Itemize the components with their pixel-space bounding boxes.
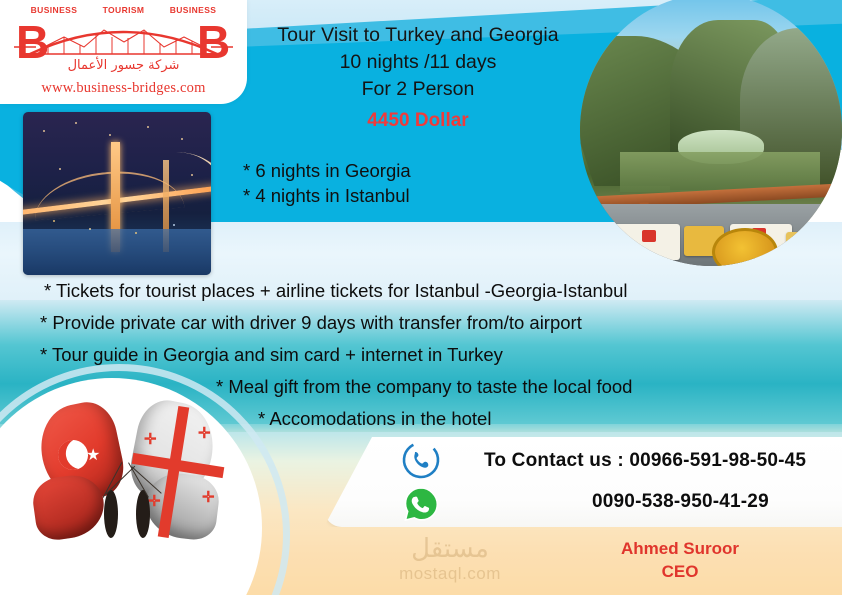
uzungol-valley-photo: [580, 0, 842, 266]
contact-phone-label: To Contact us : 00966-591-98-50-45: [484, 450, 806, 472]
inclusion-item-guide: * Tour guide in Georgia and sim card + i…: [40, 344, 503, 366]
mostaql-watermark: مستقل mostaql.com: [360, 536, 540, 584]
phone-icon[interactable]: [402, 441, 440, 479]
inclusion-item-car: * Provide private car with driver 9 days…: [40, 312, 582, 334]
contact-whatsapp-number: 0090-538-950-41-29: [592, 491, 769, 513]
istanbul-bridge-photo: [23, 112, 211, 275]
logo-website-url[interactable]: www.business-bridges.com: [0, 80, 247, 97]
inclusion-item-hotel: * Accomodations in the hotel: [258, 408, 491, 430]
company-logo-panel: BUSINESS TOURISM BUSINESS B B شركة جسور …: [0, 0, 247, 104]
bridge-icon: B B: [14, 14, 233, 60]
butterfly-body-left: [104, 490, 118, 538]
georgia-small-cross-3: ✛: [148, 494, 161, 509]
tour-price: 4450 Dollar: [262, 110, 574, 132]
signature-role: CEO: [560, 562, 800, 582]
georgia-small-cross-1: ✛: [144, 432, 157, 447]
inclusion-item-meal: * Meal gift from the company to taste th…: [216, 376, 632, 398]
georgia-small-cross-4: ✛: [202, 490, 215, 505]
inclusion-item-tickets: * Tickets for tourist places + airline t…: [44, 280, 628, 302]
poster-canvas: BUSINESS TOURISM BUSINESS B B شركة جسور …: [0, 0, 842, 595]
tour-duration: 10 nights /11 days: [262, 51, 574, 74]
page-title: Tour Visit to Turkey and Georgia: [262, 24, 574, 47]
georgia-small-cross-2: ✛: [198, 426, 211, 441]
nights-item-istanbul: * 4 nights in Istanbul: [243, 185, 410, 207]
tour-persons: For 2 Person: [262, 78, 574, 101]
whatsapp-icon[interactable]: [402, 485, 440, 523]
nights-item-georgia: * 6 nights in Georgia: [243, 160, 411, 182]
signature-name: Ahmed Suroor: [560, 539, 800, 559]
flag-butterflies-graphic: ★ ✛ ✛ ✛ ✛: [12, 398, 252, 573]
watermark-arabic: مستقل: [360, 536, 540, 562]
logo-arabic-name: شركة جسور الأعمال: [0, 58, 247, 73]
turkey-star-icon: ★: [86, 448, 100, 464]
watermark-latin: mostaql.com: [360, 564, 540, 584]
